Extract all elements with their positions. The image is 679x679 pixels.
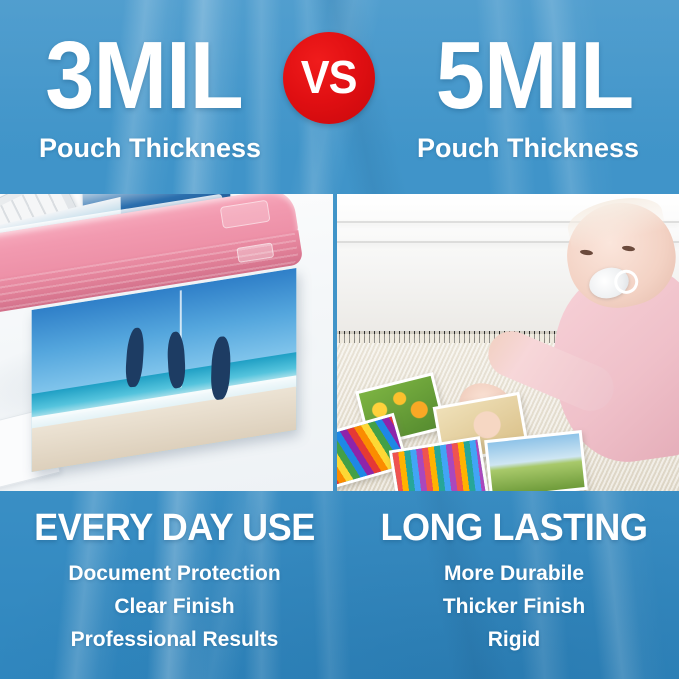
left-benefit-title: EVERY DAY USE: [9, 507, 341, 549]
right-thickness-caption: Pouch Thickness: [378, 132, 678, 164]
right-benefit-list: More Durabile Thicker Finish Rigid: [349, 557, 679, 656]
left-benefit-list: Document Protection Clear Finish Profess…: [0, 557, 349, 656]
list-item: More Durabile: [349, 557, 679, 590]
laminated-card-landscape: [484, 430, 588, 491]
list-item: Rigid: [349, 623, 679, 656]
left-thickness-value: 3MIL: [12, 26, 277, 126]
right-product-photo: [337, 194, 679, 491]
benefits-section: EVERY DAY USE Document Protection Clear …: [0, 491, 679, 679]
vs-badge: VS: [283, 32, 375, 124]
right-benefit-title: LONG LASTING: [357, 507, 671, 549]
right-thickness-value: 5MIL: [402, 26, 668, 126]
photo-panels: [0, 194, 679, 491]
comparison-infographic: 3MIL VS 5MIL Pouch Thickness Pouch Thick…: [0, 0, 679, 679]
left-product-photo: [0, 194, 333, 491]
list-item: Document Protection: [0, 557, 349, 590]
left-thickness-caption: Pouch Thickness: [0, 132, 300, 164]
header-section: 3MIL VS 5MIL Pouch Thickness Pouch Thick…: [0, 0, 679, 188]
benefits-column-right: LONG LASTING More Durabile Thicker Finis…: [349, 491, 679, 656]
vs-label: VS: [301, 54, 357, 100]
list-item: Clear Finish: [0, 590, 349, 623]
benefits-column-left: EVERY DAY USE Document Protection Clear …: [0, 491, 349, 656]
list-item: Thicker Finish: [349, 590, 679, 623]
list-item: Professional Results: [0, 623, 349, 656]
